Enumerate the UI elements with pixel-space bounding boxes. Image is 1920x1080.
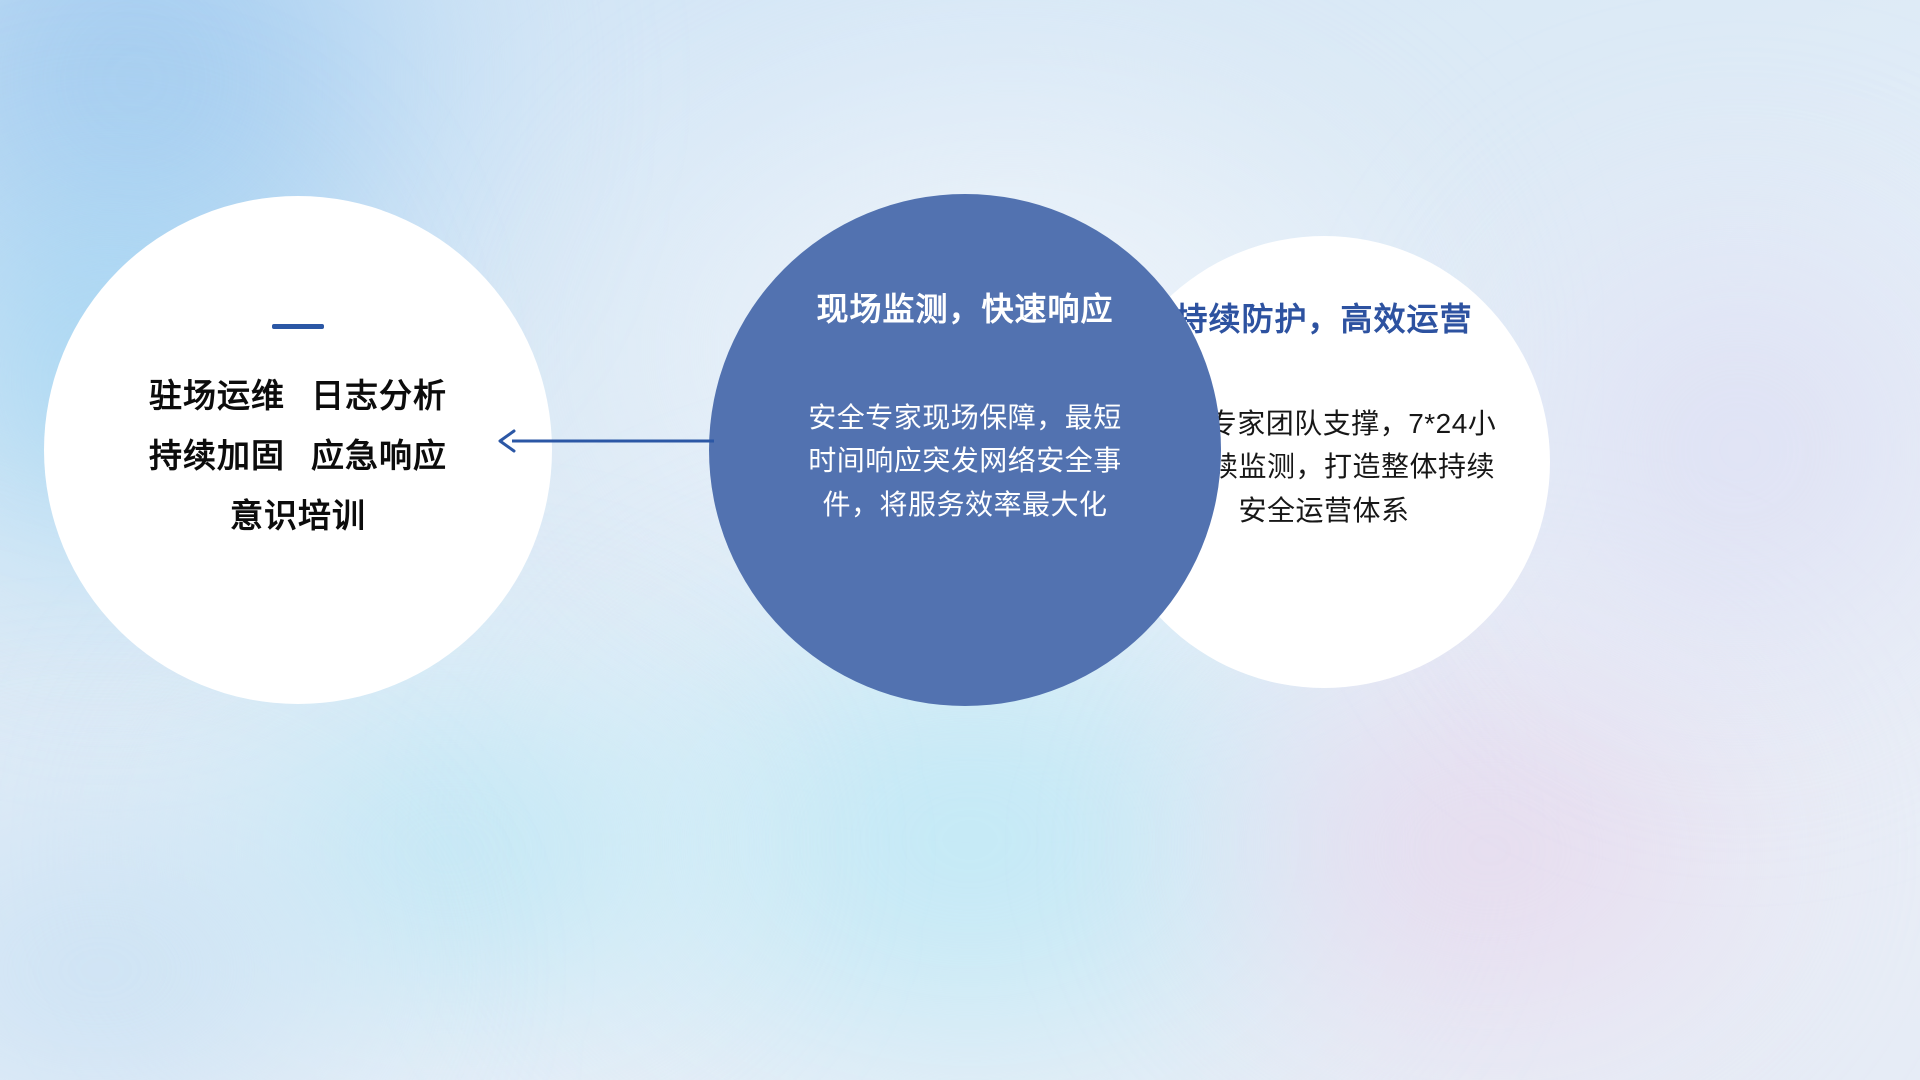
- capability-row-3: 意识培训: [230, 497, 366, 535]
- capability-item-3a: 意识培训: [230, 497, 366, 534]
- divider-rule: [272, 324, 324, 329]
- capability-row-1: 驻场运维日志分析: [149, 377, 447, 415]
- right-circle-title: 持续防护，高效运营: [1175, 294, 1472, 340]
- slide-canvas: 驻场运维日志分析 持续加固应急响应 意识培训 持续防护，高效运营 远程专家团队支…: [0, 0, 1920, 1080]
- capability-row-2: 持续加固应急响应: [149, 437, 447, 475]
- mid-circle-body: 安全专家现场保障，最短时间响应突发网络安全事件，将服务效率最大化: [800, 396, 1130, 526]
- capability-item-1b: 日志分析: [311, 377, 447, 414]
- mid-circle-title: 现场监测，快速响应: [816, 284, 1113, 330]
- left-arrow-icon: [494, 424, 714, 458]
- left-capability-circle: 驻场运维日志分析 持续加固应急响应 意识培训: [44, 196, 552, 704]
- capability-item-2b: 应急响应: [311, 437, 447, 474]
- capability-item-1a: 驻场运维: [149, 377, 285, 414]
- capability-list: 驻场运维日志分析 持续加固应急响应 意识培训: [149, 377, 447, 535]
- capability-item-2a: 持续加固: [149, 437, 285, 474]
- mid-service-circle: 现场监测，快速响应 安全专家现场保障，最短时间响应突发网络安全事件，将服务效率最…: [709, 194, 1221, 706]
